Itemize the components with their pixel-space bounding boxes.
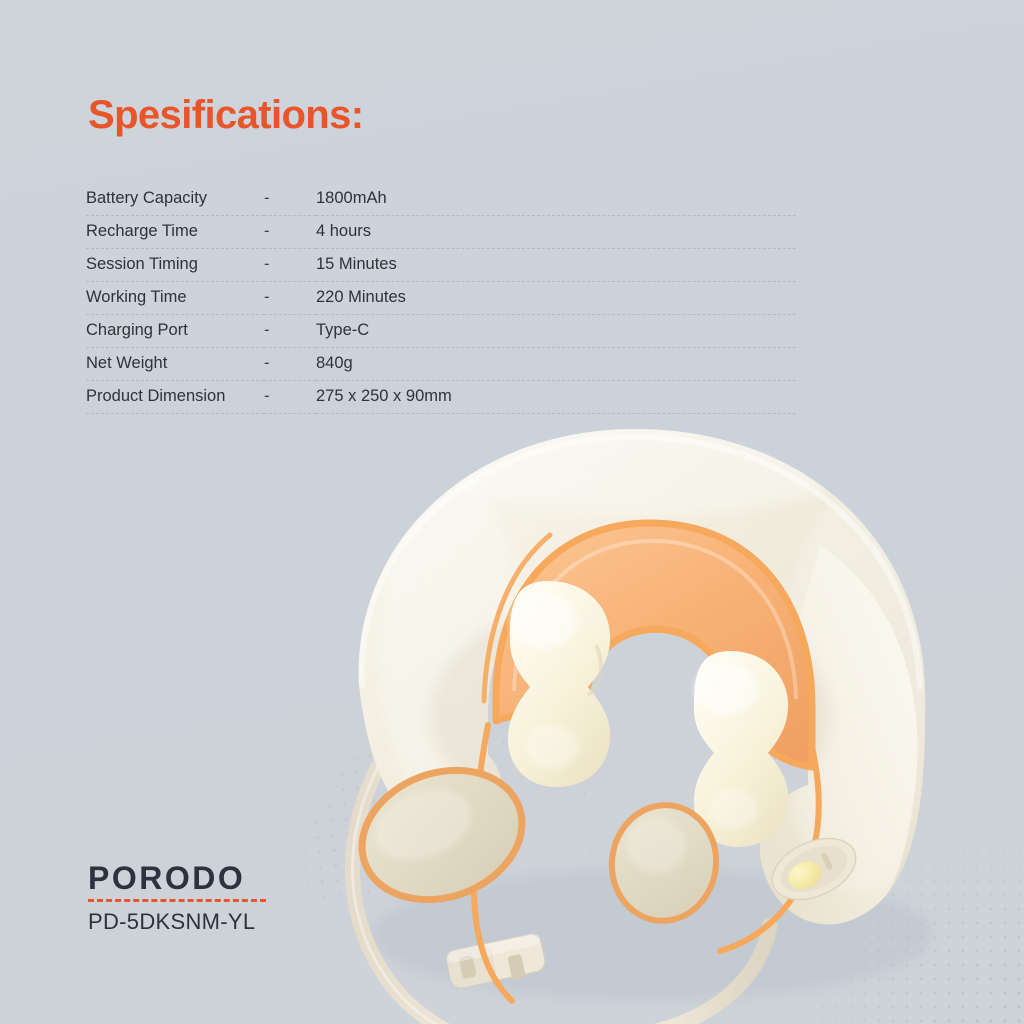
spec-label: Product Dimension: [86, 380, 264, 413]
spec-value: 275 x 250 x 90mm: [316, 380, 796, 413]
massage-node-right: [694, 651, 788, 847]
inner-orange-panel: [496, 523, 812, 767]
table-row: Product Dimension - 275 x 250 x 90mm: [86, 380, 796, 413]
spec-label: Session Timing: [86, 248, 264, 281]
spec-label: Charging Port: [86, 314, 264, 347]
power-button-icon[interactable]: [784, 857, 826, 895]
adjustable-strap: [352, 767, 770, 1024]
table-row: Charging Port - Type-C: [86, 314, 796, 347]
control-button[interactable]: [763, 826, 865, 911]
trim-seam-left: [474, 725, 512, 1001]
spec-value: 1800mAh: [316, 182, 796, 215]
strap-buckle: [445, 932, 547, 992]
node-right-shape: [694, 651, 788, 847]
product-image-neck-massager: [300, 395, 1024, 1024]
spec-label: Net Weight: [86, 347, 264, 380]
brand-logo-porodo: PORODO: [88, 862, 266, 894]
spec-separator: -: [264, 281, 316, 314]
specifications-table: Battery Capacity - 1800mAh Recharge Time…: [86, 182, 796, 414]
product-drop-shadow: [372, 869, 932, 1001]
brand-block: PORODO PD-5DKSNM-YL: [88, 862, 266, 935]
page-title: Spesifications:: [88, 93, 364, 138]
spec-separator: -: [264, 314, 316, 347]
table-row: Working Time - 220 Minutes: [86, 281, 796, 314]
brand-divider: [88, 899, 266, 902]
spec-value: 15 Minutes: [316, 248, 796, 281]
product-spec-page: Spesifications: Battery Capacity - 1800m…: [0, 0, 1024, 1024]
right-end-cap: [604, 798, 723, 927]
spec-value: 840g: [316, 347, 796, 380]
body-outer-shell: [359, 429, 925, 924]
spec-separator: -: [264, 248, 316, 281]
spec-separator: -: [264, 182, 316, 215]
table-row: Battery Capacity - 1800mAh: [86, 182, 796, 215]
massage-node-left: [508, 581, 610, 787]
spec-label: Recharge Time: [86, 215, 264, 248]
spec-value: 220 Minutes: [316, 281, 796, 314]
table-row: Recharge Time - 4 hours: [86, 215, 796, 248]
decorative-halftone-dots: [704, 734, 1024, 1024]
spec-separator: -: [264, 347, 316, 380]
node-left-shape: [508, 581, 610, 787]
spec-value: Type-C: [316, 314, 796, 347]
spec-separator: -: [264, 380, 316, 413]
table-row: Session Timing - 15 Minutes: [86, 248, 796, 281]
spec-label: Working Time: [86, 281, 264, 314]
indicator-slot-icon: [820, 852, 833, 871]
spec-label: Battery Capacity: [86, 182, 264, 215]
product-model-code: PD-5DKSNM-YL: [88, 909, 266, 935]
massager-body: [344, 415, 934, 1001]
spec-value: 4 hours: [316, 215, 796, 248]
spec-separator: -: [264, 215, 316, 248]
left-end-cap: [344, 749, 541, 922]
trim-seam-right: [720, 747, 819, 951]
table-row: Net Weight - 840g: [86, 347, 796, 380]
